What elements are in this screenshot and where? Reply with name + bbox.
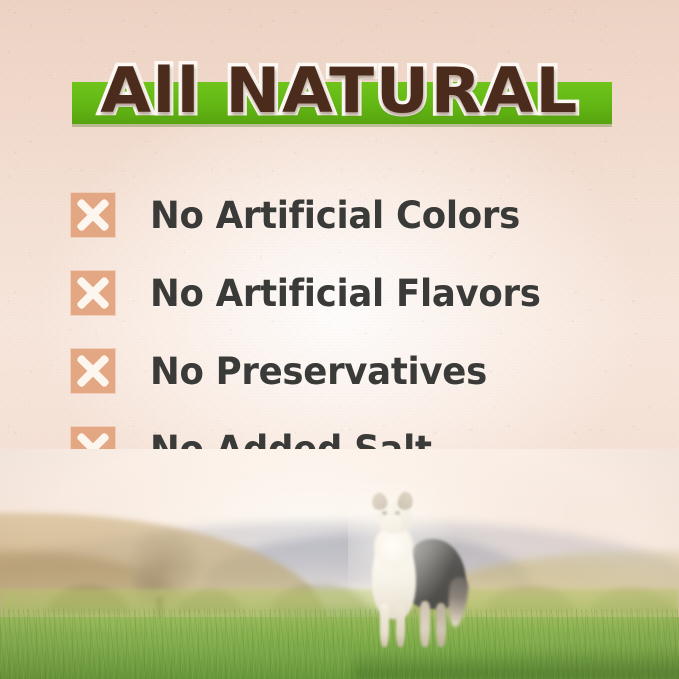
dog-figure — [358, 491, 474, 653]
benefit-list: No Artificial Colors No Artificial Flavo… — [70, 176, 630, 488]
dog-left-eye — [382, 511, 387, 515]
dog-front-left-leg — [380, 603, 389, 647]
x-mark-icon — [70, 270, 116, 316]
product-banner: All NATURAL No Artificial Colors No Arti… — [0, 0, 679, 679]
benefit-label: No Artificial Flavors — [150, 275, 541, 312]
benefit-row: No Artificial Colors — [70, 176, 630, 254]
headline-banner: All NATURAL — [0, 52, 679, 136]
dog-front-right-leg — [396, 605, 405, 647]
dog-muzzle — [382, 515, 402, 533]
dog-back-left-leg — [420, 601, 430, 647]
landscape-photo — [0, 449, 679, 679]
benefit-row: No Preservatives — [70, 332, 630, 410]
dog-back-right-leg — [436, 603, 446, 647]
x-mark-icon — [70, 348, 116, 394]
dog-right-eye — [395, 511, 400, 515]
headline-text: All NATURAL — [0, 52, 679, 130]
grass-shadow — [353, 649, 679, 679]
benefit-label: No Preservatives — [150, 353, 487, 390]
benefit-label: No Artificial Colors — [150, 197, 520, 234]
benefit-row: No Artificial Flavors — [70, 254, 630, 332]
x-mark-icon — [70, 192, 116, 238]
